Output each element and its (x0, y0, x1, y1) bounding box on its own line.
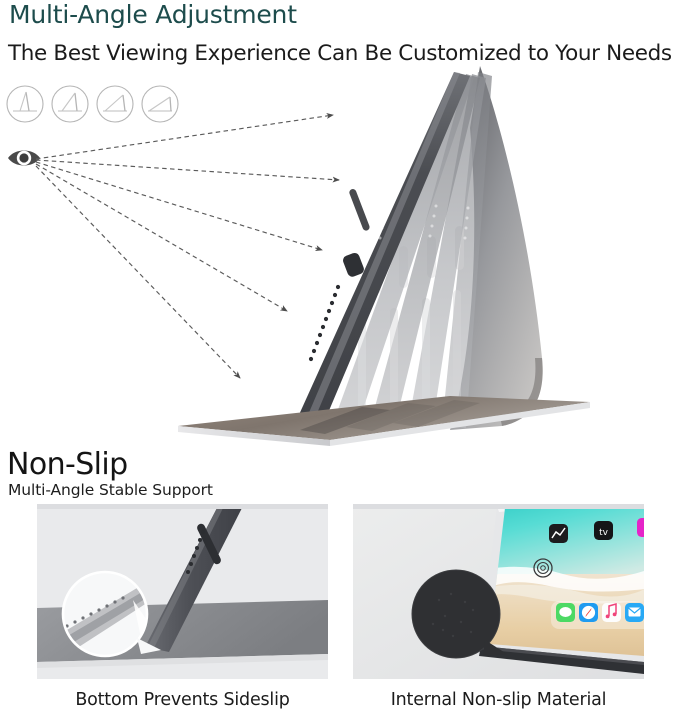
ipad-home-screen: tv (481, 504, 644, 664)
stand-base-platform (178, 396, 590, 446)
panel-bottom-prevents-sideslip (37, 504, 328, 679)
angle-preset-1-icon (5, 84, 45, 124)
angle-preset-3-icon (95, 84, 135, 124)
material-photo: tv (353, 504, 644, 679)
panel-caption-row: Bottom Prevents Sideslip Internal Non-sl… (37, 690, 645, 710)
product-feature-page: Multi-Angle Adjustment The Best Viewing … (0, 0, 679, 719)
nonslip-title: Non-Slip (7, 447, 128, 482)
dock-icon-mail[interactable] (625, 603, 644, 622)
dock (551, 601, 644, 629)
page-title: Multi-Angle Adjustment (9, 0, 297, 29)
angle-preset-2-icon (50, 84, 90, 124)
app-icon-apple-tv[interactable]: tv (594, 521, 613, 540)
app-icon-photos[interactable] (637, 518, 644, 537)
ipad-device: tv (479, 504, 644, 674)
eye-icon-wrap (6, 145, 42, 171)
panel-top-strip (353, 504, 644, 509)
tablet-stand-illustration (150, 58, 610, 453)
sideslip-photo (37, 504, 328, 679)
caption-bottom-prevents-sideslip: Bottom Prevents Sideslip (37, 690, 328, 710)
nonslip-subtitle: Multi-Angle Stable Support (8, 481, 213, 499)
panel-top-strip (37, 504, 328, 509)
panel-internal-nonslip-material: tv (353, 504, 644, 679)
dock-icon-messages[interactable] (556, 603, 575, 622)
charging-port (342, 252, 366, 279)
feature-panel-row: tv (37, 504, 645, 679)
svg-text:tv: tv (599, 528, 609, 538)
dock-icon-music[interactable] (602, 603, 621, 622)
caption-internal-nonslip-material: Internal Non-slip Material (353, 690, 644, 710)
app-icon-stocks[interactable] (549, 524, 568, 543)
upper-slot (348, 188, 370, 232)
eye-icon (6, 145, 42, 171)
dock-icon-safari[interactable] (579, 603, 598, 622)
